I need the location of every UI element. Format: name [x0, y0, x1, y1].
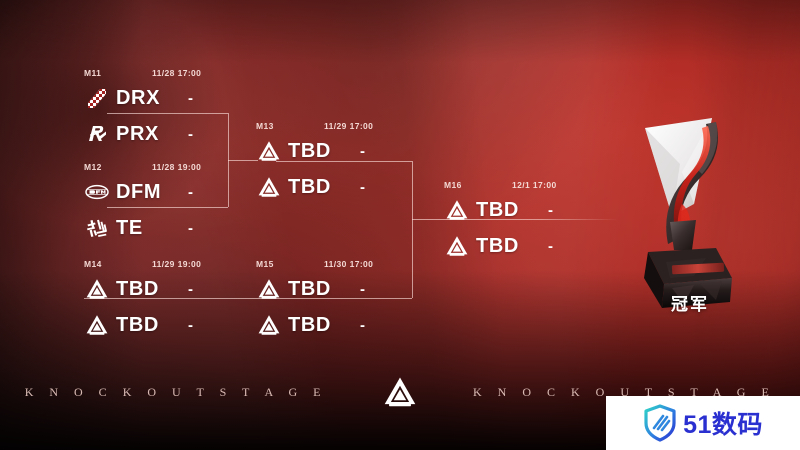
match-M13[interactable]: M13 11/29 17:00 TBD -: [256, 121, 331, 205]
match-time: 11/28 17:00: [152, 68, 201, 78]
tbd-logo: [256, 312, 282, 338]
team-row[interactable]: TBD -: [256, 133, 331, 169]
match-M15[interactable]: M15 11/30 17:00 TBD -: [256, 259, 331, 343]
team-name: TBD: [288, 278, 331, 301]
tbd-logo: [444, 197, 470, 223]
tbd-logo: [256, 276, 282, 302]
team-score: -: [188, 184, 193, 201]
team-name: TE: [116, 217, 143, 240]
team-score: -: [188, 281, 193, 298]
match-M11[interactable]: M11 11/28 17:00: [84, 68, 160, 152]
team-name: TBD: [476, 235, 519, 258]
team-row[interactable]: TBD -: [444, 192, 519, 228]
team-score: -: [188, 126, 193, 143]
team-name: TBD: [116, 278, 159, 301]
team-score: -: [360, 179, 365, 196]
team-score: -: [188, 317, 193, 334]
watermark: 51数码: [606, 396, 800, 450]
te-logo: [84, 215, 110, 241]
team-score: -: [548, 202, 553, 219]
team-row[interactable]: PRX -: [84, 116, 160, 152]
match-id: M11: [84, 68, 101, 78]
team-name: TBD: [116, 314, 159, 337]
match-header: M13 11/29 17:00: [256, 121, 331, 133]
bracket-connector-r1a-out: [228, 160, 258, 161]
team-row[interactable]: TBD -: [84, 307, 159, 343]
tbd-logo: [256, 138, 282, 164]
prx-logo: [84, 121, 110, 147]
team-name: TBD: [476, 199, 519, 222]
match-id: M16: [444, 180, 462, 190]
team-row[interactable]: TE -: [84, 210, 161, 246]
tbd-logo: [84, 276, 110, 302]
team-score: -: [188, 90, 193, 107]
trophy-caption: 冠军: [620, 290, 760, 315]
match-header: M11 11/28 17:00: [84, 68, 160, 80]
match-header: M14 11/29 19:00: [84, 259, 159, 271]
match-time: 11/29 19:00: [152, 259, 201, 269]
match-id: M15: [256, 259, 274, 269]
match-M12[interactable]: M12 11/28 19:00: [84, 162, 161, 246]
team-score: -: [548, 238, 553, 255]
match-id: M12: [84, 162, 102, 172]
team-name: TBD: [288, 314, 331, 337]
team-row[interactable]: TBD -: [256, 307, 331, 343]
team-score: -: [360, 281, 365, 298]
match-time: 11/29 17:00: [324, 121, 373, 131]
team-name: DRX: [116, 87, 160, 110]
team-row[interactable]: TBD -: [256, 271, 331, 307]
drx-logo: [84, 85, 110, 111]
match-header: M12 11/28 19:00: [84, 162, 161, 174]
team-row[interactable]: DRX -: [84, 80, 160, 116]
match-time: 11/28 19:00: [152, 162, 201, 172]
team-name: TBD: [288, 176, 331, 199]
team-row[interactable]: DFM -: [84, 174, 161, 210]
match-time: 12/1 17:00: [512, 180, 557, 190]
tournament-triangle-logo: [383, 375, 417, 409]
bracket-connector-r2-out: [412, 219, 446, 220]
tbd-logo: [84, 312, 110, 338]
match-time: 11/30 17:00: [324, 259, 373, 269]
match-M14[interactable]: M14 11/29 19:00 TBD -: [84, 259, 159, 343]
banner-text-left: K N O C K O U T S T A G E: [25, 385, 327, 400]
championship-trophy: [620, 112, 760, 312]
bracket-screenshot: M11 11/28 17:00: [0, 0, 800, 450]
team-name: DFM: [116, 181, 161, 204]
match-header: M16 12/1 17:00: [444, 180, 519, 192]
team-score: -: [188, 220, 193, 237]
team-score: -: [360, 143, 365, 160]
tbd-logo: [444, 233, 470, 259]
watermark-text: 51数码: [683, 405, 763, 441]
team-score: -: [360, 317, 365, 334]
match-header: M15 11/30 17:00: [256, 259, 331, 271]
team-row[interactable]: TBD -: [444, 228, 519, 264]
tbd-logo: [256, 174, 282, 200]
match-M16[interactable]: M16 12/1 17:00 TBD -: [444, 180, 519, 264]
dfm-logo: [84, 179, 110, 205]
team-name: TBD: [288, 140, 331, 163]
team-row[interactable]: TBD -: [256, 169, 331, 205]
match-id: M13: [256, 121, 274, 131]
bracket-connector-r2-vert: [412, 161, 413, 298]
match-id: M14: [84, 259, 102, 269]
team-row[interactable]: TBD -: [84, 271, 159, 307]
team-name: PRX: [116, 123, 159, 146]
shield-logo-icon: [643, 404, 677, 442]
